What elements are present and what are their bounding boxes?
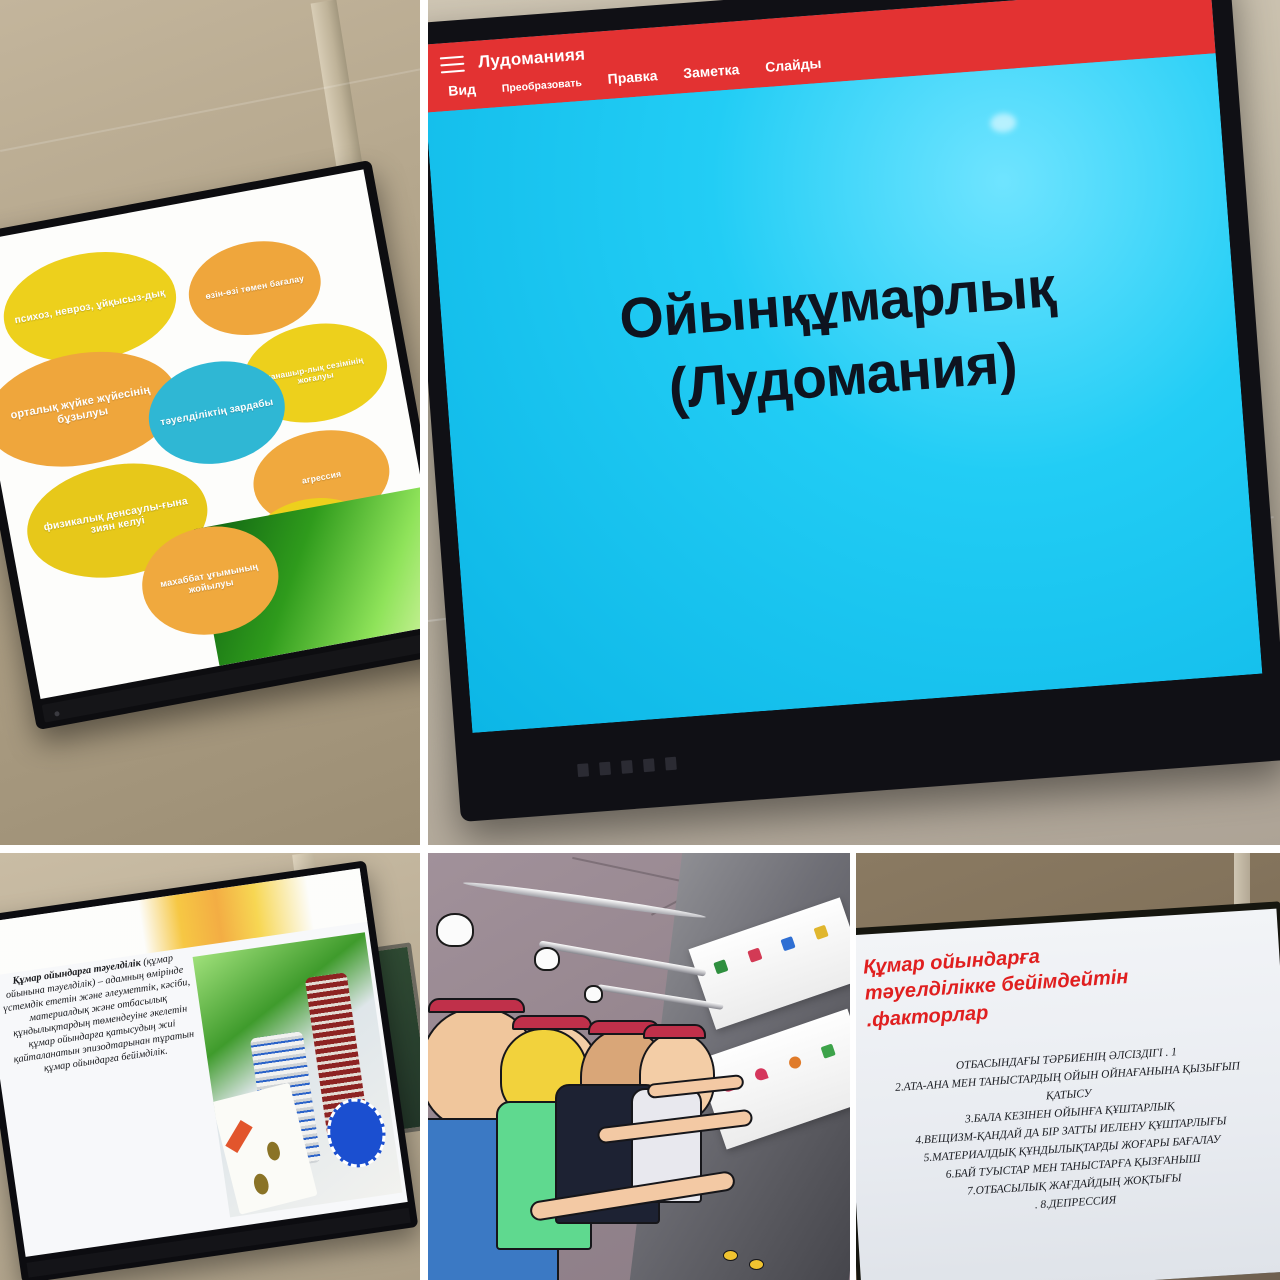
menu-item-vid[interactable]: Вид (448, 81, 477, 99)
screen-glare (990, 112, 1017, 133)
tv-display-bubble-slide: психоз, невроз, ұйқысыз-дық өзін-өзі төм… (0, 160, 420, 730)
diamond-suit-icon (225, 1120, 253, 1153)
app-title: Лудоманияя (478, 45, 586, 73)
collage-panel-cartoon (428, 853, 850, 1280)
collage-panel-definition: Құмар ойындарға тәуелділік (құмар ойынын… (0, 853, 420, 1280)
factors-list: ОТБАСЫНДАҒЫ ТӘРБИЕНІҢ ӘЛСІЗДІГІ . 1 2.АТ… (856, 1036, 1280, 1225)
bubble-label: өзін-өзі төмен бағалау (205, 274, 305, 302)
presentation-app-window: Лудоманияя Вид Преобразовать Правка Заме… (428, 0, 1262, 733)
collage-gutter-vertical (850, 853, 856, 1280)
photo-collage: психоз, невроз, ұйқысыз-дық өзін-өзі төм… (0, 0, 1280, 1280)
bubble-label: агрессия (301, 469, 342, 486)
collage-gutter-vertical (420, 853, 428, 1280)
bubble-center-label: тәуелділіктің зардабы (160, 397, 275, 429)
factors-heading: Құмар ойындарға тәуелділікке бейімдейтін… (862, 934, 1190, 1033)
tv-screen-area: Лудоманияя Вид Преобразовать Правка Заме… (428, 0, 1262, 733)
club-suit-icon (251, 1172, 270, 1196)
collage-panel-main-app: Лудоманияя Вид Преобразовать Правка Заме… (428, 0, 1280, 845)
club-suit-icon (265, 1141, 282, 1162)
puppeteer-hand (534, 947, 560, 971)
slide-canvas[interactable]: Ойынқұмарлық (Лудомания) (428, 53, 1262, 733)
bubble-label: психоз, невроз, ұйқысыз-дық (14, 287, 166, 326)
collage-gutter-horizontal (0, 845, 1280, 853)
collage-gutter-vertical (420, 0, 428, 853)
puppeteer-hand (436, 913, 474, 947)
screen-surface: Құмар ойындарға тәуелділікке бейімдейтін… (856, 909, 1280, 1280)
slide-title-block: Ойынқұмарлық (Лудомания) (440, 239, 1240, 441)
menu-item-zametka[interactable]: Заметка (683, 61, 740, 81)
collage-panel-factors: Құмар ойындарға тәуелділікке бейімдейтін… (856, 853, 1280, 1280)
bubble-label: махаббат ұғымының жойылуы (147, 559, 273, 602)
hamburger-menu-icon[interactable] (440, 55, 465, 74)
coin-icon (749, 1259, 764, 1270)
puppet-rod (462, 879, 705, 921)
tv-display-definition-slide: Құмар ойындарға тәуелділік (құмар ойынын… (0, 860, 418, 1280)
gambler-cap (428, 998, 525, 1013)
casino-photo (193, 932, 402, 1217)
tv-screen-area: Құмар ойындарға тәуелділік (құмар ойынын… (0, 868, 408, 1257)
menu-item-slaidy[interactable]: Слайды (765, 55, 822, 75)
puppeteer-hand (584, 985, 603, 1003)
projection-screen-factors-slide: Құмар ойындарға тәуелділікке бейімдейтін… (856, 901, 1280, 1280)
tv-display-presentation-app: Лудоманияя Вид Преобразовать Правка Заме… (428, 0, 1280, 822)
menu-item-preobrazovat[interactable]: Преобразовать (501, 77, 582, 95)
menu-item-pravka[interactable]: Правка (607, 67, 658, 87)
bubble-label: орталық жүйке жүйесінің бұзылуы (0, 381, 174, 438)
gambling-cartoon-illustration (428, 853, 850, 1280)
gambler-cap (643, 1024, 706, 1039)
tv-screen-area: психоз, невроз, ұйқысыз-дық өзін-өзі төм… (0, 169, 420, 699)
collage-panel-bubble-diagram: психоз, невроз, ұйқысыз-дық өзін-өзі төм… (0, 0, 420, 845)
